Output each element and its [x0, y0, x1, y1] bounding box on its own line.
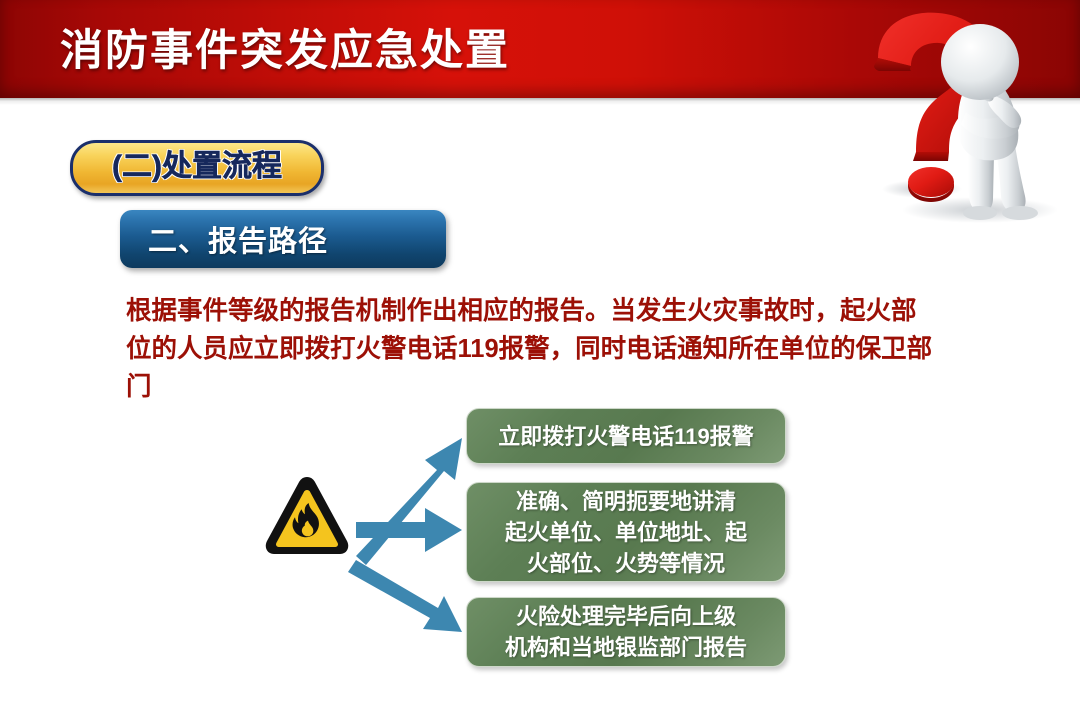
flow-box-label: 立即拨打火警电话119报警 — [488, 421, 764, 452]
section-heading-box[interactable]: 二、报告路径 — [120, 210, 446, 268]
arrow-to-box-2 — [356, 508, 462, 552]
fire-hazard-warning-icon — [263, 473, 351, 557]
flow-box[interactable]: 准确、简明扼要地讲清 起火单位、单位地址、起 火部位、火势等情况 — [466, 482, 786, 582]
title-banner-shadow — [0, 98, 1080, 105]
slide-canvas: 消防事件突发应急处置 (二)处置流程 二、报告路径 根据事件等级的报告机制作出相… — [0, 0, 1080, 720]
arrow-to-box-1 — [356, 438, 462, 565]
body-paragraph: 根据事件等级的报告机制作出相应的报告。当发生火灾事故时，起火部位的人员应立即拨打… — [126, 292, 934, 406]
section-badge[interactable]: (二)处置流程 — [70, 140, 324, 196]
arrow-to-box-3 — [348, 560, 462, 632]
flow-box[interactable]: 火险处理完毕后向上级 机构和当地银监部门报告 — [466, 597, 786, 667]
flow-box-label: 火险处理完毕后向上级 机构和当地银监部门报告 — [495, 601, 757, 663]
section-heading-label: 二、报告路径 — [148, 218, 328, 260]
section-badge-label: (二)处置流程 — [112, 152, 282, 182]
flow-box[interactable]: 立即拨打火警电话119报警 — [466, 408, 786, 464]
flow-box-label: 准确、简明扼要地讲清 起火单位、单位地址、起 火部位、火势等情况 — [495, 486, 757, 579]
slide-title: 消防事件突发应急处置 — [60, 16, 510, 78]
